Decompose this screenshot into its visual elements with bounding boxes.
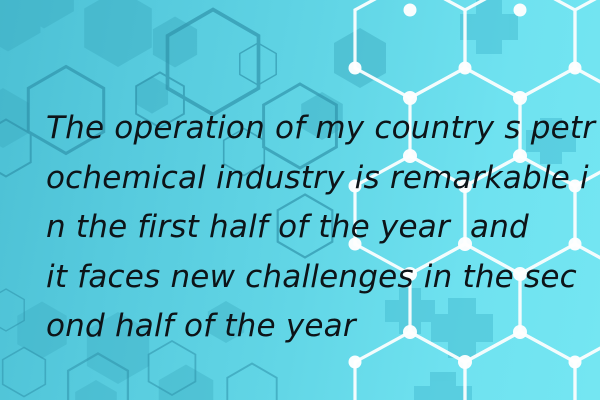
headline-text-block: The operation of my country s petr ochem… (46, 104, 576, 352)
headline-line-4: it faces new challenges in the sec (46, 253, 576, 303)
headline-line-3: n the first half of the year and (46, 203, 576, 253)
poster-canvas: The operation of my country s petr ochem… (0, 0, 600, 400)
headline-line-1: The operation of my country s petr (46, 104, 576, 154)
headline-line-2: ochemical industry is remarkable i (46, 154, 576, 204)
medical-cross-icon (460, 0, 518, 54)
headline-line-5: ond half of the year (46, 302, 576, 352)
medical-cross-icon (414, 372, 472, 400)
